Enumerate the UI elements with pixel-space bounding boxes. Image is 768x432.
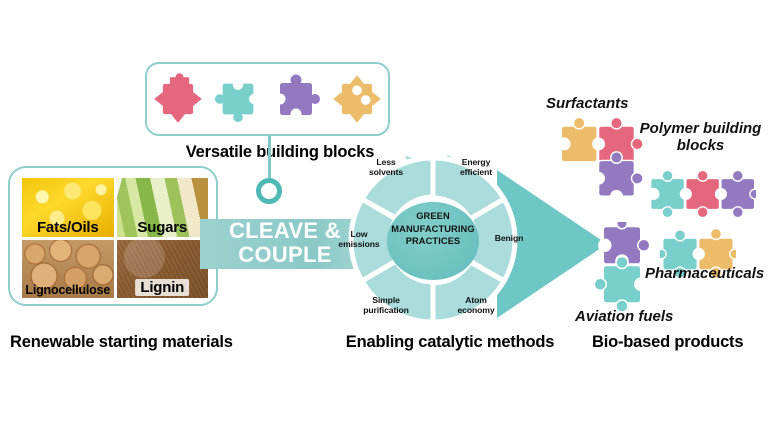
seg2-line1: Benign — [485, 234, 533, 244]
cycle-center-line-2: MANUFACTURING — [377, 223, 489, 236]
cycle-center-line-3: PRACTICES — [377, 235, 489, 248]
cycle-center-label: GREEN MANUFACTURING PRACTICES — [377, 210, 489, 248]
caption-renewable-starting-materials: Renewable starting materials — [10, 333, 270, 352]
green-manufacturing-cycle: GREEN MANUFACTURING PRACTICES Less solve… — [333, 150, 533, 330]
cycle-center-line-1: GREEN — [377, 210, 489, 223]
building-blocks-panel — [145, 62, 390, 136]
product-label-pharmaceuticals: Pharmaceuticals — [645, 265, 764, 282]
seg4-line2: purification — [351, 306, 421, 316]
material-tile-lignocellulose: Lignocellulose — [22, 240, 114, 299]
renewable-materials-grid: Fats/Oils Sugars Lignocellulose Lignin — [22, 178, 208, 298]
connector-line — [268, 136, 271, 181]
seg1-line2: efficient — [445, 168, 507, 178]
material-label-lignocellulose: Lignocellulose — [22, 284, 114, 297]
cycle-segment-benign: Benign — [485, 234, 533, 244]
renewable-materials-panel: Fats/Oils Sugars Lignocellulose Lignin — [8, 166, 218, 306]
material-label-lignin: Lignin — [135, 279, 189, 296]
cycle-segment-simple-purification: Simple purification — [351, 296, 421, 315]
seg3-line2: economy — [445, 306, 507, 316]
seg0-line2: solvents — [355, 168, 417, 178]
product-cluster-surfactants — [557, 116, 643, 202]
cleave-line-1: CLEAVE & — [229, 219, 341, 243]
product-label-polymer-building-blocks: Polymer building blocks — [633, 120, 768, 155]
product-cluster-polymer-building-blocks — [648, 168, 756, 220]
connector-ring-icon — [256, 178, 282, 204]
building-blocks-row — [147, 64, 388, 134]
material-tile-lignin: Lignin — [117, 240, 209, 299]
puzzle-piece-pink-icon — [151, 72, 205, 126]
cycle-segment-energy-efficient: Energy efficient — [445, 158, 507, 177]
product-label-surfactants: Surfactants — [546, 95, 629, 112]
product-cluster-aviation-fuels — [594, 222, 650, 312]
puzzle-piece-teal-icon — [214, 75, 262, 123]
cycle-segment-less-solvents: Less solvents — [355, 158, 417, 177]
puzzle-piece-orange-icon — [330, 72, 384, 126]
cycle-segment-atom-economy: Atom economy — [445, 296, 507, 315]
caption-bio-based-products: Bio-based products — [592, 333, 768, 352]
seg5-line2: emissions — [329, 240, 389, 250]
material-label-sugars: Sugars — [117, 220, 209, 235]
cleave-line-2: COUPLE — [238, 243, 331, 267]
material-tile-fats-oils: Fats/Oils — [22, 178, 114, 237]
material-tile-sugars: Sugars — [117, 178, 209, 237]
material-label-fats-oils: Fats/Oils — [22, 220, 114, 235]
puzzle-piece-purple-icon — [271, 74, 321, 124]
product-label-aviation-fuels: Aviation fuels — [575, 308, 673, 325]
cycle-segment-low-emissions: Low emissions — [329, 230, 389, 249]
caption-enabling-catalytic-methods: Enabling catalytic methods — [330, 333, 570, 352]
